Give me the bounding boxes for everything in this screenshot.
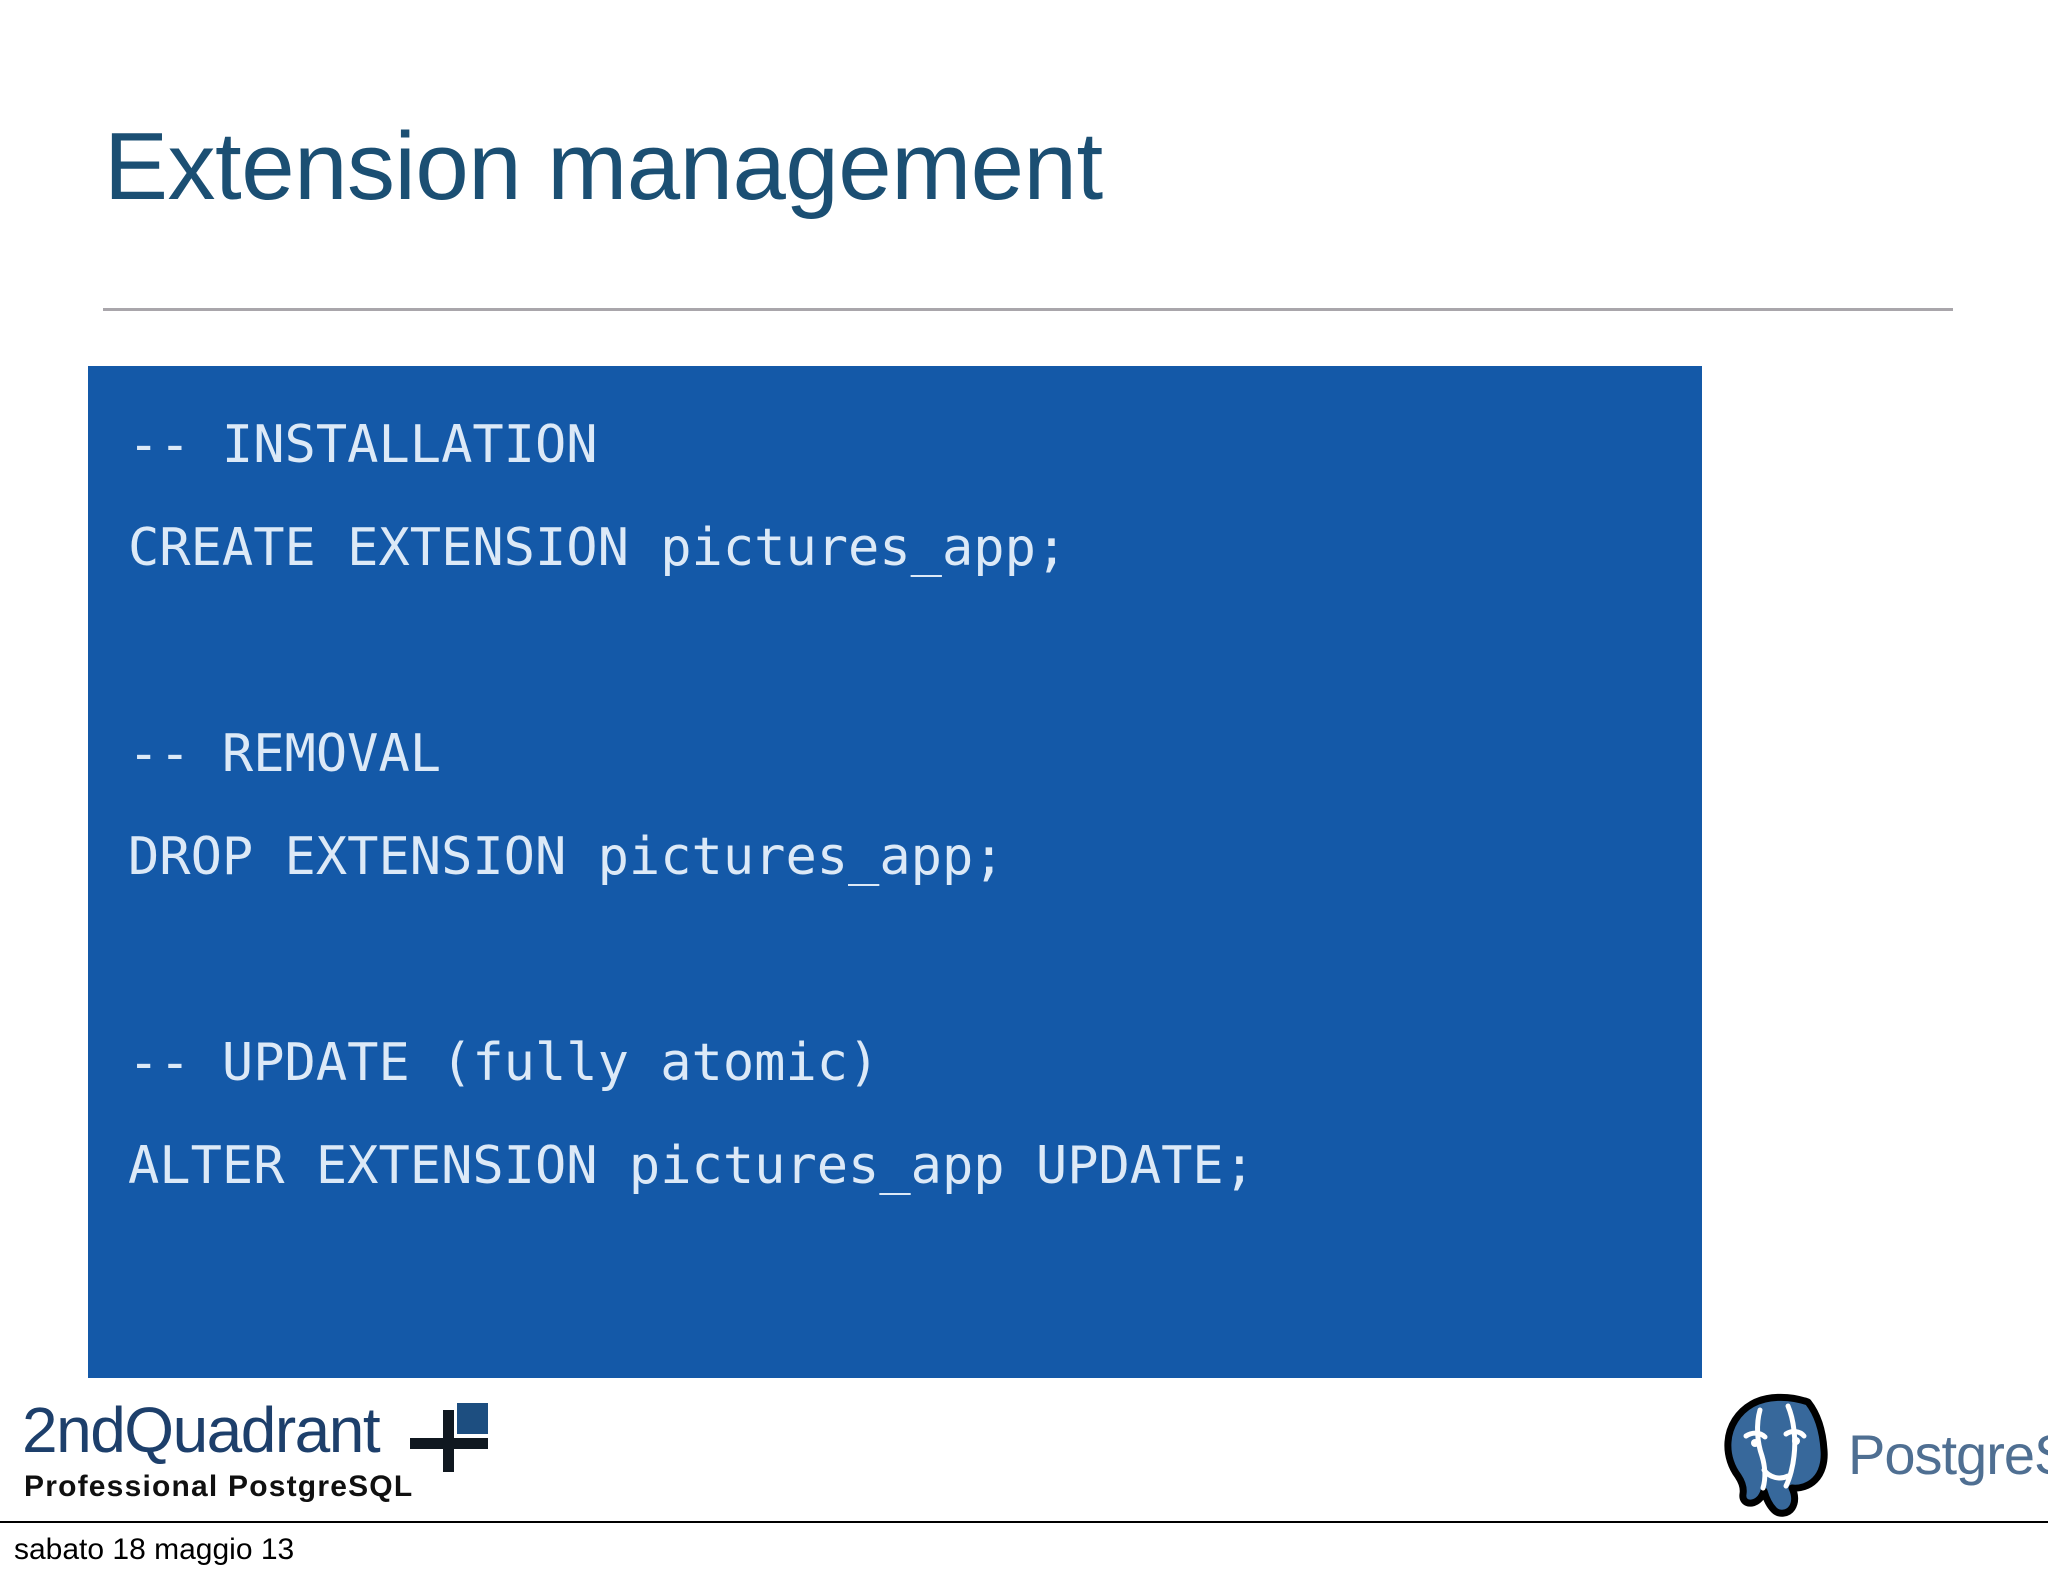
second-quadrant-wordmark: 2ndQuadrant [22,1394,379,1466]
title-divider [103,308,1953,311]
code-line-blank [128,600,1702,703]
footer-date: sabato 18 maggio 13 [14,1532,294,1568]
second-quadrant-logo: 2ndQuadrant Professional PostgreSQL [22,1394,492,1514]
slide-canvas: Extension management -- INSTALLATION CRE… [0,0,2048,1521]
postgresql-logo: PostgreSQL [1716,1390,2036,1520]
code-line: -- INSTALLATION [128,394,1702,497]
code-line-blank [128,909,1702,1012]
logo-row: 2ndQuadrant Professional PostgreSQL [0,1390,2048,1520]
elephant-icon [1716,1390,1844,1518]
code-line: DROP EXTENSION pictures_app; [128,806,1702,909]
page-title: Extension management [104,112,1103,222]
footer-bar: sabato 18 maggio 13 [0,1521,2048,1576]
second-quadrant-tagline: Professional PostgreSQL [24,1470,413,1504]
postgresql-wordmark: PostgreSQL [1848,1424,2048,1486]
code-line: CREATE EXTENSION pictures_app; [128,497,1702,600]
plus-square-icon [410,1402,488,1472]
code-line: ALTER EXTENSION pictures_app UPDATE; [128,1115,1702,1218]
code-line: -- UPDATE (fully atomic) [128,1012,1702,1115]
code-line: -- REMOVAL [128,703,1702,806]
code-block: -- INSTALLATION CREATE EXTENSION picture… [88,366,1702,1378]
